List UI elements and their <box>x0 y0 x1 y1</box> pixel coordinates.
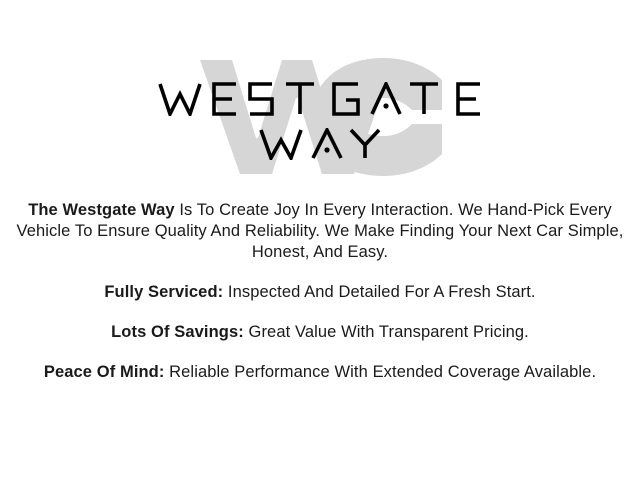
paragraph-body: Reliable Performance With Extended Cover… <box>164 363 596 381</box>
paragraph-fully-serviced: Fully Serviced: Inspected And Detailed F… <box>8 282 632 303</box>
logo-wordmark-way <box>0 128 640 160</box>
logo-block <box>0 52 640 182</box>
paragraph-body: Great Value With Transparent Pricing. <box>244 323 529 341</box>
paragraph-lead: Peace Of Mind: <box>44 363 165 381</box>
paragraph-lead: Lots Of Savings: <box>111 323 244 341</box>
paragraph-westgate-way: The Westgate Way Is To Create Joy In Eve… <box>8 200 632 263</box>
logo-marks <box>0 52 640 182</box>
logo-wordmark-westgate <box>0 82 640 116</box>
paragraph-lead: Fully Serviced: <box>104 283 223 301</box>
letter-a-dot-icon <box>324 147 329 152</box>
westgate-way-panel: The Westgate Way Is To Create Joy In Eve… <box>0 0 640 480</box>
paragraph-body: Inspected And Detailed For A Fresh Start… <box>223 283 535 301</box>
paragraph-lots-of-savings: Lots Of Savings: Great Value With Transp… <box>8 322 632 343</box>
value-proposition-copy: The Westgate Way Is To Create Joy In Eve… <box>8 200 632 383</box>
paragraph-lead: The Westgate Way <box>28 201 174 219</box>
letter-a-dot-icon <box>383 103 388 108</box>
paragraph-peace-of-mind: Peace Of Mind: Reliable Performance With… <box>8 362 632 383</box>
